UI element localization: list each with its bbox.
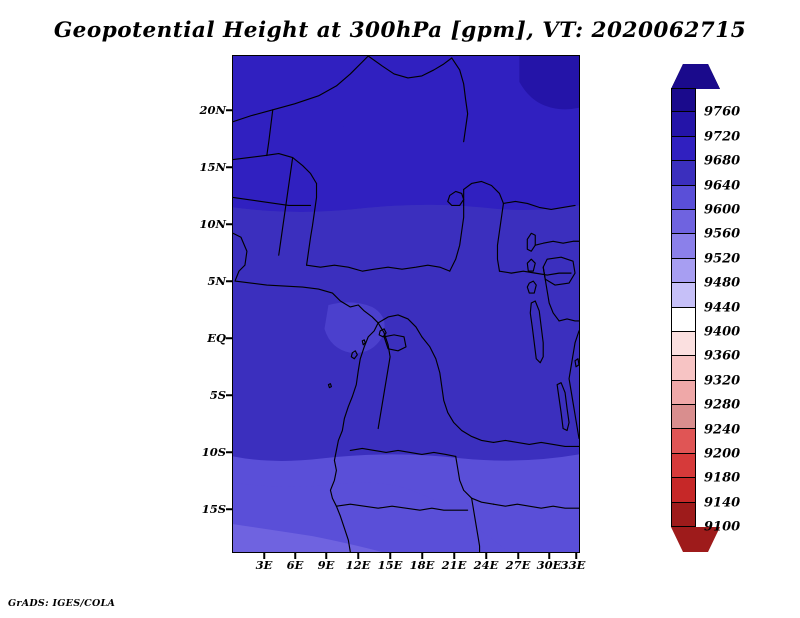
colorbar-tick-label: 9400 [704,325,740,340]
footer-credit: GrADS: IGES/COLA [8,598,115,609]
x-tick-label: 12E [346,558,371,572]
y-tick-label: EQ [207,331,226,345]
x-tick-label: 27E [506,558,531,572]
colorbar-swatches [671,88,696,527]
colorbar-swatch [672,137,695,161]
colorbar-swatch [672,210,695,234]
colorbar-tick-label: 9720 [704,129,740,144]
colorbar-swatch [672,259,695,283]
x-tick-label: 3E [256,558,273,572]
colorbar-tick-label: 9100 [704,520,740,535]
colorbar-tick-label: 9180 [704,471,740,486]
colorbar-tick-label: 9360 [704,349,740,364]
colorbar-swatch [672,308,695,332]
x-tick-label: 21E [442,558,467,572]
x-tick-label: 33E [561,558,586,572]
map-plot-area [232,55,580,553]
y-tick-label: 10N [199,217,226,231]
colorbar: 9760972096809640960095609520948094409400… [668,62,700,554]
colorbar-swatch [672,405,695,429]
colorbar-swatch [672,478,695,502]
x-tick-label: 9E [318,558,335,572]
y-tick-label: 5S [210,388,226,402]
colorbar-swatch [672,186,695,210]
colorbar-tick-label: 9240 [704,422,740,437]
colorbar-tick-label: 9520 [704,251,740,266]
colorbar-tick-label: 9480 [704,276,740,291]
colorbar-swatch [672,454,695,478]
x-tick-label: 6E [287,558,304,572]
colorbar-swatch [672,234,695,258]
x-axis-labels: 3E 6E 9E 12E 15E 18E 21E 24E 27E 30E 33E [0,558,800,578]
colorbar-swatch [672,112,695,136]
colorbar-tick-label: 9440 [704,300,740,315]
geopotential-height-field [233,56,579,552]
colorbar-tick-label: 9200 [704,447,740,462]
y-tick-label: 10S [202,445,226,459]
y-tick-label: 15N [199,160,226,174]
x-tick-label: 24E [474,558,499,572]
colorbar-tick-label: 9760 [704,105,740,120]
colorbar-tick-label: 9320 [704,373,740,388]
colorbar-tick-label: 9680 [704,154,740,169]
chart-page: Geopotential Height at 300hPa [gpm], VT:… [0,0,800,618]
colorbar-swatch [672,356,695,380]
colorbar-swatch [672,283,695,307]
colorbar-tick-label: 9280 [704,398,740,413]
colorbar-swatch [672,381,695,405]
colorbar-tick-label: 9140 [704,495,740,510]
colorbar-tick-labels: 9760972096809640960095609520948094409400… [704,62,774,554]
colorbar-swatch [672,429,695,453]
y-tick-label: 20N [199,103,226,117]
colorbar-tick-label: 9600 [704,203,740,218]
y-tick-label: 5N [207,274,226,288]
x-tick-label: 15E [378,558,403,572]
colorbar-swatch [672,503,695,527]
colorbar-tick-label: 9560 [704,227,740,242]
x-tick-label: 18E [410,558,435,572]
colorbar-swatch [672,88,695,112]
colorbar-swatch [672,161,695,185]
page-title: Geopotential Height at 300hPa [gpm], VT:… [0,18,800,43]
y-tick-label: 15S [202,502,226,516]
colorbar-swatch [672,332,695,356]
colorbar-tick-label: 9640 [704,178,740,193]
x-tick-label: 30E [537,558,562,572]
y-axis-labels: 20N 15N 10N 5N EQ 5S 10S 15S [182,0,226,618]
